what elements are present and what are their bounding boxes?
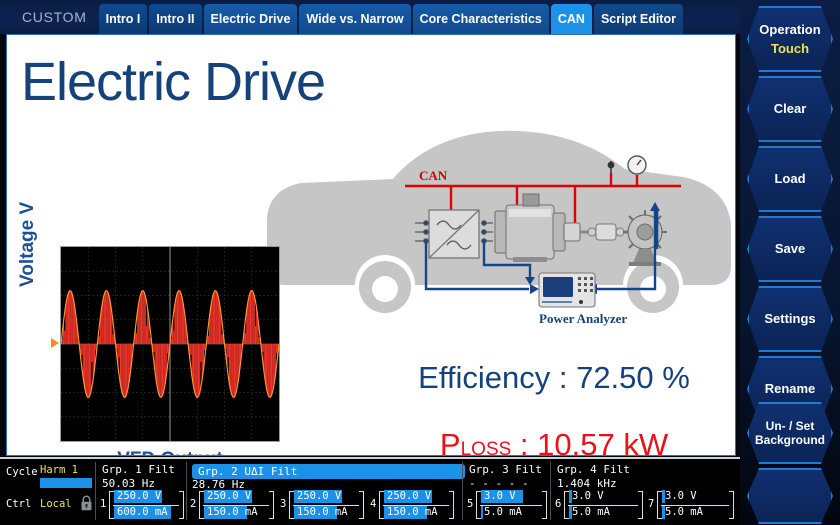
ploss-subscript: LOSS <box>461 439 512 456</box>
sidebar-button-set-background-label: Un- / SetBackground <box>755 419 825 447</box>
status-cycle-ctrl-cell: Cycle Harm 1 Ctrl Local <box>4 460 92 523</box>
status-divider-2 <box>186 462 187 520</box>
sidebar-button-load-label: Load <box>774 171 805 186</box>
channel-current-row: 5.0 mA <box>481 506 539 519</box>
channel-bracket-right <box>179 491 184 519</box>
sidebar-button-settings[interactable]: Settings <box>747 286 833 352</box>
channel-meter-2[interactable]: 2250.0 V150.0 mA <box>190 490 274 520</box>
channel-voltage-value: 3.0 V <box>572 490 604 503</box>
status-divider-3 <box>462 462 463 520</box>
channel-number-5: 5 <box>467 498 473 510</box>
efficiency-label: Efficiency : <box>418 360 576 395</box>
group-1-header: Grp. 1 Filt <box>102 463 175 476</box>
channel-current-value: 5.0 mA <box>484 506 522 519</box>
efficiency-value: 72.50 % <box>576 360 690 395</box>
sidebar-button-save-label: Save <box>775 241 805 256</box>
group-4-value: 1.404 kHz <box>557 477 617 490</box>
tab-script-editor[interactable]: Script Editor <box>594 4 683 34</box>
channel-voltage-row: 250.0 V <box>294 490 356 503</box>
tab-bar: CUSTOM Intro I Intro II Electric Drive W… <box>0 0 740 34</box>
inverter-terminals <box>415 221 429 243</box>
channel-current-value: 5.0 mA <box>665 506 703 519</box>
channel-current-row: 150.0 mA <box>294 506 356 519</box>
sidebar-button-set-background[interactable]: Un- / SetBackground <box>747 402 833 464</box>
sidebar-button-clear-label: Clear <box>774 101 807 116</box>
channel-number-1: 1 <box>100 498 106 510</box>
tab-intro-ii[interactable]: Intro II <box>149 4 201 34</box>
channel-bracket-right <box>729 491 734 519</box>
channel-bracket-right <box>269 491 274 519</box>
main-content-panel: Electric Drive <box>6 34 736 456</box>
application-window: CUSTOM Intro I Intro II Electric Drive W… <box>0 0 840 525</box>
sidebar-button-operation[interactable]: Operation Touch <box>747 6 833 72</box>
channel-current-row: 600.0 mA <box>114 506 176 519</box>
sidebar-button-rename-label: Rename <box>765 381 816 396</box>
channel-meter-6[interactable]: 63.0 V5.0 mA <box>555 490 643 520</box>
ctrl-label: Ctrl <box>6 498 31 510</box>
group-2-header: Grp. 2 UΔI Filt <box>192 464 465 479</box>
channel-voltage-value: 250.0 V <box>117 490 161 503</box>
channel-number-3: 3 <box>280 498 286 510</box>
can-label-text: CAN <box>419 168 448 183</box>
cycle-progress-bar <box>40 478 92 488</box>
channel-voltage-row: 250.0 V <box>384 490 446 503</box>
channel-current-row: 150.0 mA <box>204 506 266 519</box>
channel-bracket-right <box>638 491 643 519</box>
sidebar-button-empty[interactable] <box>747 468 833 524</box>
sidebar-button-operation-value: Touch <box>771 41 809 56</box>
group-3-header: Grp. 3 Filt <box>469 463 542 476</box>
tab-can[interactable]: CAN <box>551 4 592 34</box>
gauge-icon <box>628 156 646 174</box>
scope-caption: VFD Output <box>60 449 280 456</box>
channel-current-value: 150.0 mA <box>207 506 258 519</box>
channel-voltage-value: 3.0 V <box>484 490 516 503</box>
power-analyzer-label: Power Analyzer <box>539 311 627 326</box>
lock-icon <box>80 495 93 511</box>
channel-meter-4[interactable]: 4250.0 V150.0 mA <box>370 490 454 520</box>
channel-voltage-value: 250.0 V <box>387 490 431 503</box>
channel-bracket-right <box>542 491 547 519</box>
channel-voltage-row: 250.0 V <box>114 490 176 503</box>
channel-current-row: 5.0 mA <box>569 506 635 519</box>
efficiency-readout: Efficiency : 72.50 % <box>389 360 719 396</box>
cycle-value[interactable]: Harm 1 <box>40 464 78 476</box>
tab-intro-i[interactable]: Intro I <box>99 4 148 34</box>
status-divider-4 <box>550 462 551 520</box>
group-3-value: - - - - - <box>469 477 529 490</box>
electric-motor <box>495 194 580 262</box>
powertrain-diagram: CAN <box>389 153 709 343</box>
sidebar: Operation Touch Clear Load Save Settings… <box>740 0 840 525</box>
motor-terminals <box>481 221 493 243</box>
tab-wide-vs-narrow[interactable]: Wide vs. Narrow <box>299 4 410 34</box>
channel-current-value: 150.0 mA <box>297 506 348 519</box>
sidebar-button-load[interactable]: Load <box>747 146 833 212</box>
tab-electric-drive[interactable]: Electric Drive <box>204 4 298 34</box>
group-1-value: 50.03 Hz <box>102 477 155 490</box>
power-analyzer-device <box>539 273 595 307</box>
status-bar: Cycle Harm 1 Ctrl Local Grp. 1 Filt 50.0… <box>0 457 740 525</box>
channel-number-7: 7 <box>648 498 654 510</box>
channel-current-value: 600.0 mA <box>117 506 168 519</box>
channel-current-row: 5.0 mA <box>662 506 726 519</box>
sensor-probe-icon <box>608 161 615 173</box>
channel-bracket-right <box>359 491 364 519</box>
channel-voltage-value: 3.0 V <box>665 490 697 503</box>
status-bar-top-divider <box>0 457 740 459</box>
power-loss-readout: PLOSS : 10.57 kW <box>389 427 719 456</box>
sidebar-button-settings-label: Settings <box>764 311 815 326</box>
channel-current-bar <box>481 506 483 519</box>
scope-y-axis-label: Voltage V <box>17 202 39 287</box>
ctrl-value[interactable]: Local <box>40 498 72 510</box>
channel-current-row: 150.0 mA <box>384 506 446 519</box>
channel-number-4: 4 <box>370 498 376 510</box>
ploss-separator: : <box>511 427 537 456</box>
channel-meter-7[interactable]: 73.0 V5.0 mA <box>648 490 734 520</box>
status-divider-1 <box>95 462 96 520</box>
channel-voltage-row: 250.0 V <box>204 490 266 503</box>
channel-voltage-value: 250.0 V <box>297 490 341 503</box>
group-4-header: Grp. 4 Filt <box>557 463 630 476</box>
sidebar-button-clear[interactable]: Clear <box>747 76 833 142</box>
channel-meter-5[interactable]: 53.0 V5.0 mA <box>467 490 547 520</box>
sidebar-button-operation-label: Operation <box>759 22 820 37</box>
cycle-label: Cycle <box>6 466 38 478</box>
inverter-box <box>429 210 479 258</box>
custom-label: CUSTOM <box>6 9 99 34</box>
channel-number-6: 6 <box>555 498 561 510</box>
channel-bracket-right <box>449 491 454 519</box>
channel-voltage-value: 250.0 V <box>207 490 251 503</box>
sidebar-button-save[interactable]: Save <box>747 216 833 282</box>
channel-voltage-row: 3.0 V <box>569 490 635 503</box>
channel-current-value: 5.0 mA <box>572 506 610 519</box>
channel-meter-3[interactable]: 3250.0 V150.0 mA <box>280 490 364 520</box>
channel-current-value: 150.0 mA <box>387 506 438 519</box>
ploss-value: 10.57 kW <box>537 427 668 456</box>
ploss-label: P <box>440 427 461 456</box>
channel-number-2: 2 <box>190 498 196 510</box>
page-title: Electric Drive <box>21 51 325 113</box>
scope-cursor-marker <box>51 338 59 348</box>
dynamometer <box>623 210 667 266</box>
channel-meter-1[interactable]: 1250.0 V600.0 mA <box>100 490 184 520</box>
channel-voltage-row: 3.0 V <box>662 490 726 503</box>
tab-core-characteristics[interactable]: Core Characteristics <box>413 4 549 34</box>
scope-display[interactable] <box>60 246 280 442</box>
channel-voltage-row: 3.0 V <box>481 490 539 503</box>
